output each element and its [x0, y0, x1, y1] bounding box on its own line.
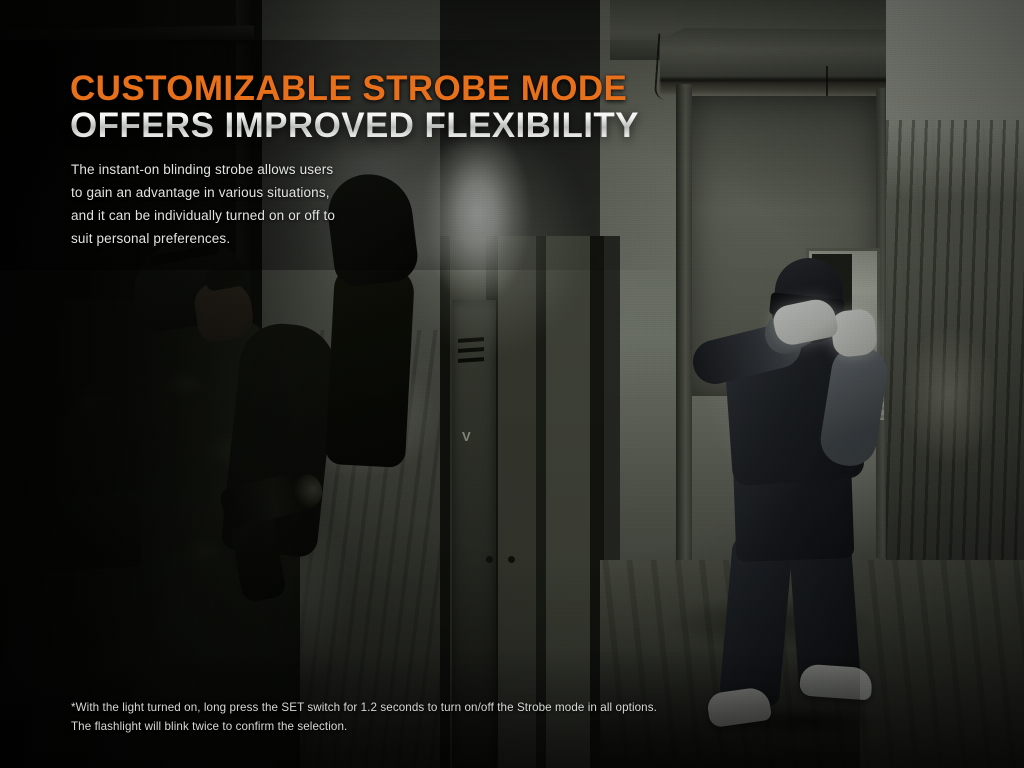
footnote-line: The flashlight will blink twice to confi…	[71, 718, 831, 737]
footnote-line: *With the light turned on, long press th…	[71, 699, 831, 718]
promo-banner: V	[0, 0, 1024, 768]
text-overlay: CUSTOMIZABLE STROBE MODE OFFERS IMPROVED…	[0, 0, 1024, 768]
body-copy-line: and it can be individually turned on or …	[71, 204, 401, 227]
body-copy-line: to gain an advantage in various situatio…	[71, 181, 401, 204]
footnote-block: *With the light turned on, long press th…	[71, 699, 831, 736]
headline-block: CUSTOMIZABLE STROBE MODE OFFERS IMPROVED…	[70, 70, 639, 144]
headline-line-1: CUSTOMIZABLE STROBE MODE	[70, 70, 639, 107]
headline-line-2: OFFERS IMPROVED FLEXIBILITY	[70, 107, 639, 144]
body-copy-line: The instant-on blinding strobe allows us…	[71, 158, 401, 181]
body-copy-line: suit personal preferences.	[71, 227, 401, 250]
body-copy-paragraph: The instant-on blinding strobe allows us…	[71, 158, 401, 250]
